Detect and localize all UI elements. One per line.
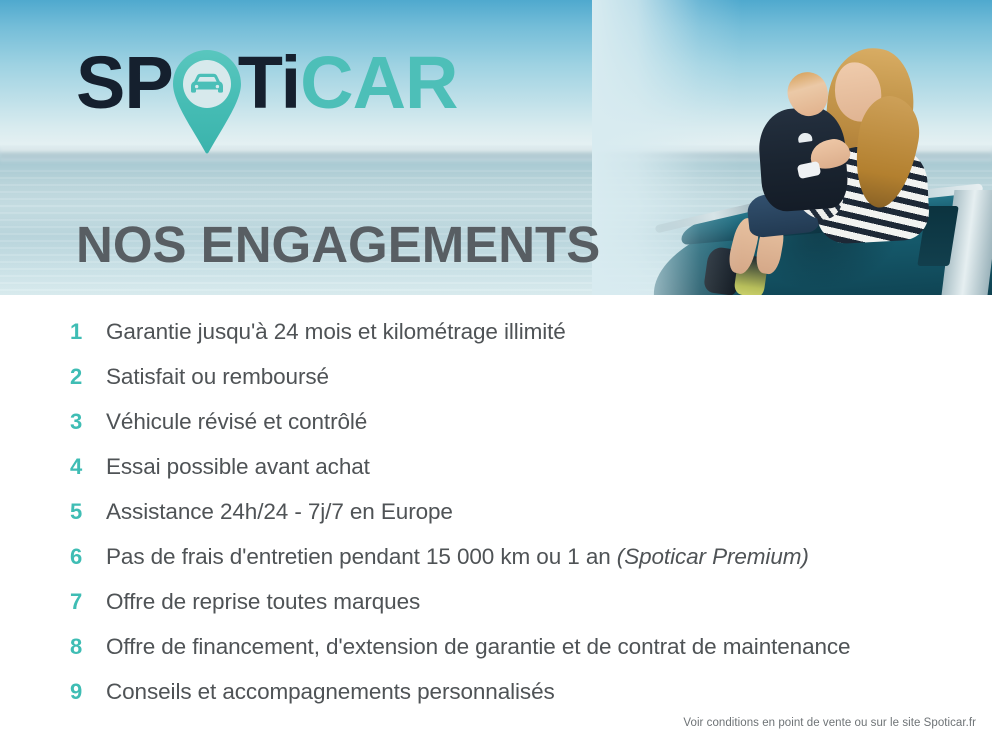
list-item: 8 Offre de financement, d'extension de g… <box>0 633 992 678</box>
list-item: 7 Offre de reprise toutes marques <box>0 588 992 633</box>
map-pin-car-icon <box>170 48 244 156</box>
list-item-note: (Spoticar Premium) <box>617 544 809 569</box>
list-item-number: 2 <box>70 363 106 391</box>
logo-text-ti: Ti <box>238 46 300 120</box>
commitments-list: 1 Garantie jusqu'à 24 mois et kilométrag… <box>0 295 992 723</box>
list-item: 6 Pas de frais d'entretien pendant 15 00… <box>0 543 992 588</box>
list-item: 3 Véhicule révisé et contrôlé <box>0 408 992 453</box>
list-item-number: 9 <box>70 678 106 706</box>
list-item-number: 1 <box>70 318 106 346</box>
list-item-text: Essai possible avant achat <box>106 454 370 479</box>
list-item-number: 6 <box>70 543 106 571</box>
spoticar-logo: SP <box>76 46 457 156</box>
list-item: 1 Garantie jusqu'à 24 mois et kilométrag… <box>0 318 992 363</box>
list-item-label: Pas de frais d'entretien pendant 15 000 … <box>106 543 809 571</box>
logo-text-car: CAR <box>300 46 457 120</box>
hero-banner: SP <box>0 0 992 295</box>
child-jacket-emblem <box>797 132 812 143</box>
page-title: NOS ENGAGEMENTS <box>76 216 600 274</box>
list-item-number: 3 <box>70 408 106 436</box>
list-item: 2 Satisfait ou remboursé <box>0 363 992 408</box>
list-item-text: Offre de financement, d'extension de gar… <box>106 634 850 659</box>
list-item-label: Véhicule révisé et contrôlé <box>106 408 367 436</box>
list-item-label: Offre de financement, d'extension de gar… <box>106 633 850 661</box>
footer-disclaimer: Voir conditions en point de vente ou sur… <box>683 717 976 729</box>
list-item-label: Garantie jusqu'à 24 mois et kilométrage … <box>106 318 566 346</box>
list-item-label: Satisfait ou remboursé <box>106 363 329 391</box>
list-item-text: Pas de frais d'entretien pendant 15 000 … <box>106 544 617 569</box>
hero-photo <box>592 0 992 295</box>
list-item-number: 8 <box>70 633 106 661</box>
logo-text-sp: SP <box>76 46 173 120</box>
list-item-number: 7 <box>70 588 106 616</box>
list-item-text: Satisfait ou remboursé <box>106 364 329 389</box>
list-item-text: Garantie jusqu'à 24 mois et kilométrage … <box>106 319 566 344</box>
list-item-label: Assistance 24h/24 - 7j/7 en Europe <box>106 498 453 526</box>
list-item-label: Essai possible avant achat <box>106 453 370 481</box>
list-item: 5 Assistance 24h/24 - 7j/7 en Europe <box>0 498 992 543</box>
list-item-label: Offre de reprise toutes marques <box>106 588 420 616</box>
list-item-text: Assistance 24h/24 - 7j/7 en Europe <box>106 499 453 524</box>
list-item-text: Offre de reprise toutes marques <box>106 589 420 614</box>
list-item-text: Conseils et accompagnements personnalisé… <box>106 679 555 704</box>
list-item-number: 4 <box>70 453 106 481</box>
list-item-text: Véhicule révisé et contrôlé <box>106 409 367 434</box>
spoticar-commitments-page: SP <box>0 0 992 744</box>
list-item-label: Conseils et accompagnements personnalisé… <box>106 678 555 706</box>
list-item-number: 5 <box>70 498 106 526</box>
list-item: 4 Essai possible avant achat <box>0 453 992 498</box>
